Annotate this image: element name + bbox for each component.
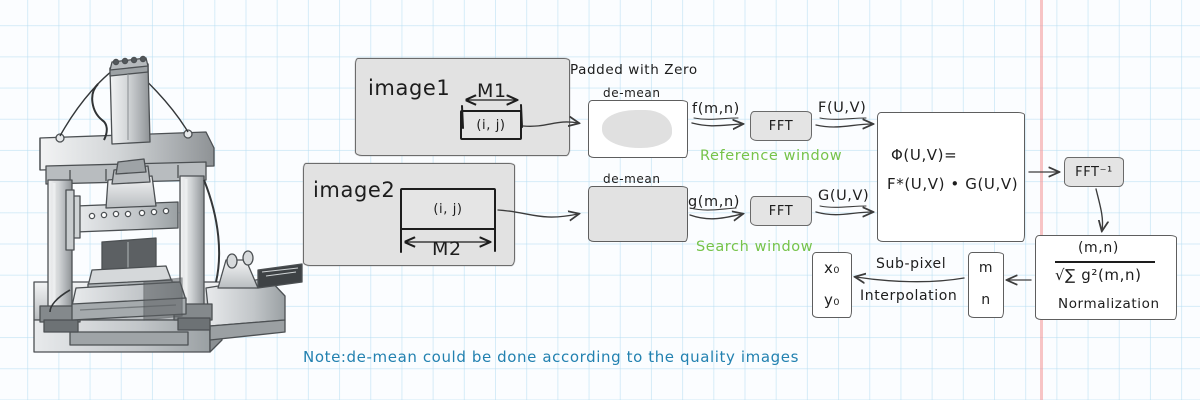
image1-dimension-label: M1 <box>477 80 507 102</box>
hydraulic-press-illustration <box>10 20 310 390</box>
footer-note: Note:de-mean could be done according to … <box>303 348 799 366</box>
fft-bottom-label: FFT <box>750 196 812 226</box>
phi-formula-line2: F*(U,V) • G(U,V) <box>887 175 1018 193</box>
G-UV-label: G(U,V) <box>818 188 869 204</box>
demean-top-label: de-mean <box>603 86 661 100</box>
normalization-fraction-bar <box>1055 261 1155 263</box>
padded-reference-blob <box>602 110 672 148</box>
padded-with-zero-title: Padded with Zero <box>570 62 698 78</box>
image2-dimension-label: M2 <box>432 238 462 260</box>
normalization-numerator: (m,n) <box>1078 240 1119 256</box>
image1-label: image1 <box>368 76 450 100</box>
red-margin-line <box>1040 0 1043 400</box>
normalization-caption: Normalization <box>1058 296 1160 312</box>
result-x0-label: x₀ <box>812 256 852 280</box>
image2-window-label: (i, j) <box>400 188 496 230</box>
demean-bottom-label: de-mean <box>603 172 661 186</box>
fft-top-label: FFT <box>750 111 812 141</box>
mn-box-m-label: m <box>968 256 1004 280</box>
image1-panel <box>355 58 570 156</box>
image2-label: image2 <box>313 178 395 202</box>
phi-formula-line1: Φ(U,V)= <box>891 146 957 164</box>
inverse-fft-label: FFT⁻¹ <box>1064 157 1124 187</box>
reference-window-label: Reference window <box>700 148 842 164</box>
mn-box-n-label: n <box>968 288 1004 312</box>
normalization-denominator: √∑ g²(m,n) <box>1055 266 1142 284</box>
search-window-label: Search window <box>696 239 813 255</box>
subpixel-label-line2: Interpolation <box>860 288 957 304</box>
image1-window-label: (i, j) <box>460 110 522 140</box>
subpixel-label-line1: Sub-pixel <box>876 256 946 272</box>
padded-search-box <box>588 186 688 242</box>
result-y0-label: y₀ <box>812 288 852 312</box>
g-mn-label: g(m,n) <box>688 194 740 210</box>
F-UV-label: F(U,V) <box>818 100 866 116</box>
f-mn-label: f(m,n) <box>692 101 740 117</box>
